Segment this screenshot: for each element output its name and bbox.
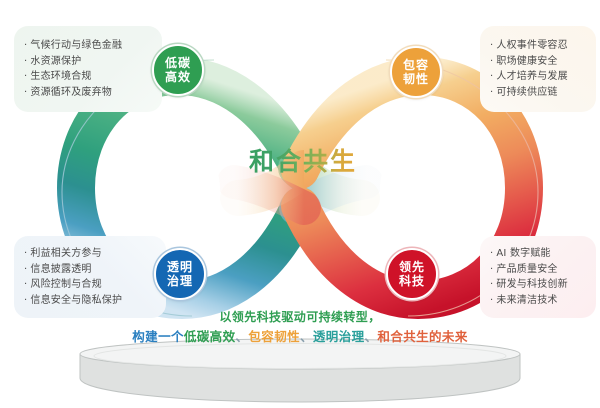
- tagline-part: 透明治理: [313, 329, 365, 344]
- panel-governance: 利益相关方参与 信息披露透明 风险控制与合规 信息安全与隐私保护: [14, 236, 166, 318]
- badge-inclusive-resilient[interactable]: 包容 韧性: [390, 46, 442, 98]
- right-loop-hole: [380, 140, 468, 236]
- list-item: 利益相关方参与: [24, 246, 166, 262]
- list-item: 风险控制与合规: [24, 277, 166, 293]
- badge-label-line1: 领先: [399, 260, 425, 274]
- list-item: 职场健康安全: [490, 54, 596, 70]
- bullet-list-environment: 气候行动与绿色金融 水资源保护 生态环境合规 资源循环及废弃物: [24, 38, 162, 100]
- badge-transparent-governance[interactable]: 透明 治理: [154, 248, 206, 300]
- badge-label-line1: 透明: [167, 260, 193, 274]
- tagline-sep: 、: [300, 329, 313, 344]
- list-item: 资源循环及废弃物: [24, 85, 162, 101]
- bullet-list-social: 人权事件零容忍 职场健康安全 人才培养与发展 可持续供应链: [490, 38, 596, 100]
- tagline-sep: 、: [235, 329, 248, 344]
- tagline-part: 包容韧性: [248, 329, 300, 344]
- badge-label-line2: 韧性: [403, 72, 429, 86]
- tagline-part: 和合共生的未来: [377, 329, 467, 344]
- list-item: 人才培养与发展: [490, 69, 596, 85]
- badge-label-line2: 治理: [167, 274, 193, 288]
- bullet-list-technology: AI 数字赋能 产品质量安全 研发与科技创新 未来清洁技术: [490, 246, 596, 308]
- badge-low-carbon-efficient[interactable]: 低碳 高效: [152, 44, 204, 96]
- badge-leading-technology[interactable]: 领先 科技: [386, 248, 438, 300]
- left-loop-hole: [132, 140, 220, 236]
- badge-label-line2: 科技: [399, 274, 425, 288]
- panel-technology: AI 数字赋能 产品质量安全 研发与科技创新 未来清洁技术: [480, 236, 596, 318]
- tagline-line-1: 以领先科技驱动可持续转型，: [0, 308, 600, 327]
- tagline-part: 构建一个: [132, 329, 184, 344]
- tagline-part: 低碳高效: [184, 329, 236, 344]
- list-item: 气候行动与绿色金融: [24, 38, 162, 54]
- list-item: 信息披露透明: [24, 262, 166, 278]
- bullet-list-governance: 利益相关方参与 信息披露透明 风险控制与合规 信息安全与隐私保护: [24, 246, 166, 308]
- badge-label-line1: 低碳: [165, 56, 191, 70]
- list-item: 生态环境合规: [24, 69, 162, 85]
- badge-label-line1: 包容: [403, 58, 429, 72]
- list-item: 可持续供应链: [490, 85, 596, 101]
- panel-social: 人权事件零容忍 职场健康安全 人才培养与发展 可持续供应链: [480, 26, 596, 112]
- center-wordmark: 和合共生: [238, 143, 368, 177]
- tagline: 以领先科技驱动可持续转型， 构建一个低碳高效、包容韧性、透明治理、和合共生的未来: [0, 308, 600, 346]
- list-item: 未来清洁技术: [490, 293, 596, 309]
- list-item: 人权事件零容忍: [490, 38, 596, 54]
- list-item: 研发与科技创新: [490, 277, 596, 293]
- badge-label-line2: 高效: [165, 70, 191, 84]
- esg-infinity-infographic: 气候行动与绿色金融 水资源保护 生态环境合规 资源循环及废弃物 人权事件零容忍 …: [0, 0, 600, 408]
- panel-environment: 气候行动与绿色金融 水资源保护 生态环境合规 资源循环及废弃物: [14, 26, 162, 112]
- list-item: 产品质量安全: [490, 262, 596, 278]
- list-item: AI 数字赋能: [490, 246, 596, 262]
- tagline-sep: 、: [365, 329, 378, 344]
- tagline-line-2: 构建一个低碳高效、包容韧性、透明治理、和合共生的未来: [0, 327, 600, 346]
- list-item: 水资源保护: [24, 54, 162, 70]
- list-item: 信息安全与隐私保护: [24, 293, 166, 309]
- platform-pedestal: [60, 338, 540, 404]
